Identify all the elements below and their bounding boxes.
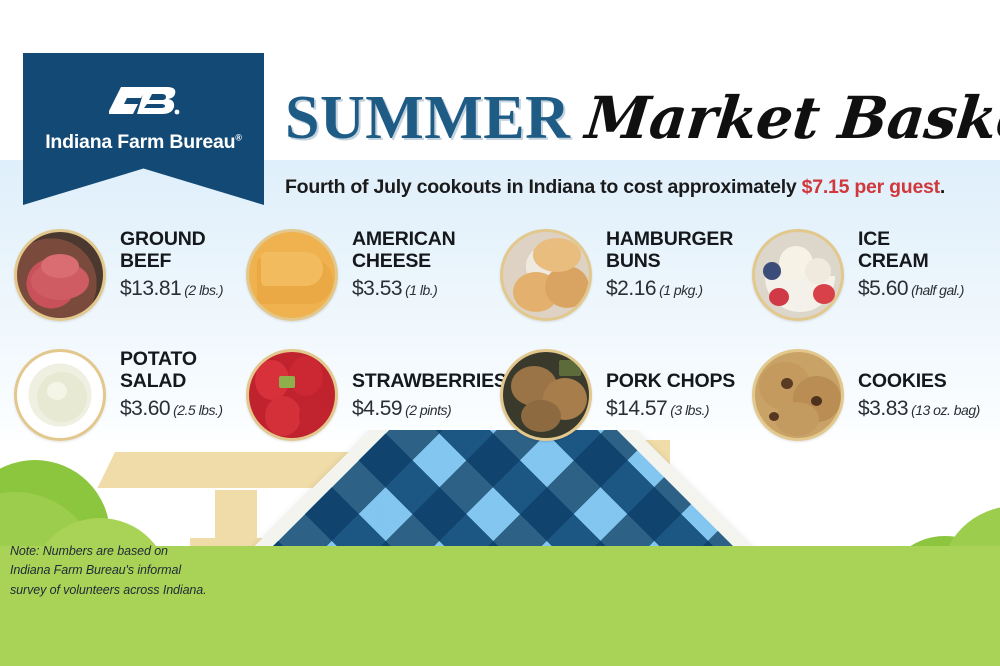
subtitle-prefix: Fourth of July cookouts in Indiana to co… (285, 176, 802, 198)
item-price-line: $14.57(3 lbs.) (606, 397, 735, 421)
item-price: $3.53 (352, 277, 402, 300)
title-market-basket: Market Basket (583, 84, 1000, 152)
ground-beef-text: GROUND BEEF $13.81(2 lbs.) (120, 225, 223, 301)
item-name-line2: CHEESE (352, 251, 455, 273)
item-cookies: COOKIES $3.83(13 oz. bag) (752, 345, 997, 455)
item-name: STRAWBERRIES (352, 371, 507, 393)
item-price: $3.83 (858, 397, 908, 420)
american-cheese-photo (246, 229, 338, 321)
item-name: PORK CHOPS (606, 371, 735, 393)
ice-cream-photo (752, 229, 844, 321)
item-price-line: $4.59(2 pints) (352, 397, 507, 421)
item-name: GROUND BEEF (120, 229, 223, 273)
ground-beef-photo (14, 229, 106, 321)
item-price-line: $3.83(13 oz. bag) (858, 397, 980, 421)
item-name: ICE CREAM (858, 229, 964, 273)
strawberries-text: STRAWBERRIES $4.59(2 pints) (352, 345, 507, 421)
item-name-line1: ICE (858, 229, 964, 251)
infographic-canvas: Indiana Farm Bureau® SUMMER Market Baske… (0, 0, 1000, 666)
item-price: $3.60 (120, 397, 170, 420)
item-price-line: $2.16(1 pkg.) (606, 277, 733, 301)
brand-name-text: Indiana Farm Bureau (45, 131, 235, 153)
item-name-line1: AMERICAN (352, 229, 455, 251)
item-name-line2: BUNS (606, 251, 733, 273)
item-price: $14.57 (606, 397, 667, 420)
item-price-line: $13.81(2 lbs.) (120, 277, 223, 301)
subtitle-suffix: . (940, 176, 945, 198)
item-name-line1: COOKIES (858, 371, 980, 393)
item-name-line1: POTATO (120, 349, 223, 371)
item-unit: (2 pints) (405, 402, 451, 418)
footnote-line2: Indiana Farm Bureau's informal (10, 561, 250, 580)
brand-name: Indiana Farm Bureau® (45, 131, 242, 154)
item-price-line: $5.60(half gal.) (858, 277, 964, 301)
market-basket-items: GROUND BEEF $13.81(2 lbs.) AMERICAN (0, 225, 1000, 465)
item-name-line1: PORK CHOPS (606, 371, 735, 393)
item-name: POTATO SALAD (120, 349, 223, 393)
item-pork-chops: PORK CHOPS $14.57(3 lbs.) (500, 345, 750, 455)
item-name: AMERICAN CHEESE (352, 229, 455, 273)
item-strawberries: STRAWBERRIES $4.59(2 pints) (246, 345, 501, 455)
potato-salad-text: POTATO SALAD $3.60(2.5 lbs.) (120, 345, 223, 421)
item-unit: (13 oz. bag) (911, 402, 980, 418)
item-price-line: $3.53(1 lb.) (352, 277, 455, 301)
footnote: Note: Numbers are based on Indiana Farm … (10, 542, 250, 600)
item-ground-beef: GROUND BEEF $13.81(2 lbs.) (14, 225, 254, 335)
title-summer: SUMMER (285, 83, 570, 154)
item-name-line2: CREAM (858, 251, 964, 273)
item-hamburger-buns: HAMBURGER BUNS $2.16(1 pkg.) (500, 225, 750, 335)
subtitle-price: $7.15 per guest (802, 176, 940, 198)
strawberries-photo (246, 349, 338, 441)
item-unit: (2.5 lbs.) (173, 402, 222, 418)
item-name-line2: SALAD (120, 371, 223, 393)
item-name-line2: BEEF (120, 251, 223, 273)
registered-mark: ® (235, 133, 241, 143)
items-row-2: POTATO SALAD $3.60(2.5 lbs.) (0, 345, 1000, 465)
item-price: $13.81 (120, 277, 181, 300)
item-unit: (1 lb.) (405, 282, 437, 298)
item-unit: (3 lbs.) (670, 402, 709, 418)
item-price: $2.16 (606, 277, 656, 300)
page-title: SUMMER Market Basket (285, 78, 990, 158)
item-potato-salad: POTATO SALAD $3.60(2.5 lbs.) (14, 345, 254, 455)
footnote-line3: survey of volunteers across Indiana. (10, 581, 250, 600)
item-american-cheese: AMERICAN CHEESE $3.53(1 lb.) (246, 225, 496, 335)
potato-salad-photo (14, 349, 106, 441)
items-row-1: GROUND BEEF $13.81(2 lbs.) AMERICAN (0, 225, 1000, 345)
subtitle: Fourth of July cookouts in Indiana to co… (285, 176, 985, 199)
pork-chops-text: PORK CHOPS $14.57(3 lbs.) (606, 345, 735, 421)
item-name-line1: GROUND (120, 229, 223, 251)
item-price: $5.60 (858, 277, 908, 300)
item-name-line1: STRAWBERRIES (352, 371, 507, 393)
item-unit: (half gal.) (911, 282, 964, 298)
hamburger-buns-text: HAMBURGER BUNS $2.16(1 pkg.) (606, 225, 733, 301)
item-price: $4.59 (352, 397, 402, 420)
american-cheese-text: AMERICAN CHEESE $3.53(1 lb.) (352, 225, 455, 301)
cookies-photo (752, 349, 844, 441)
farm-bureau-fb-mark-icon (107, 81, 181, 121)
item-name-line1: HAMBURGER (606, 229, 733, 251)
item-name: HAMBURGER BUNS (606, 229, 733, 273)
item-name: COOKIES (858, 371, 980, 393)
hamburger-buns-photo (500, 229, 592, 321)
footnote-line1: Note: Numbers are based on (10, 542, 250, 561)
item-ice-cream: ICE CREAM $5.60(half gal.) (752, 225, 997, 335)
item-unit: (2 lbs.) (184, 282, 223, 298)
ice-cream-text: ICE CREAM $5.60(half gal.) (858, 225, 964, 301)
pork-chops-photo (500, 349, 592, 441)
cookies-text: COOKIES $3.83(13 oz. bag) (858, 345, 980, 421)
item-unit: (1 pkg.) (659, 282, 702, 298)
item-price-line: $3.60(2.5 lbs.) (120, 397, 223, 421)
